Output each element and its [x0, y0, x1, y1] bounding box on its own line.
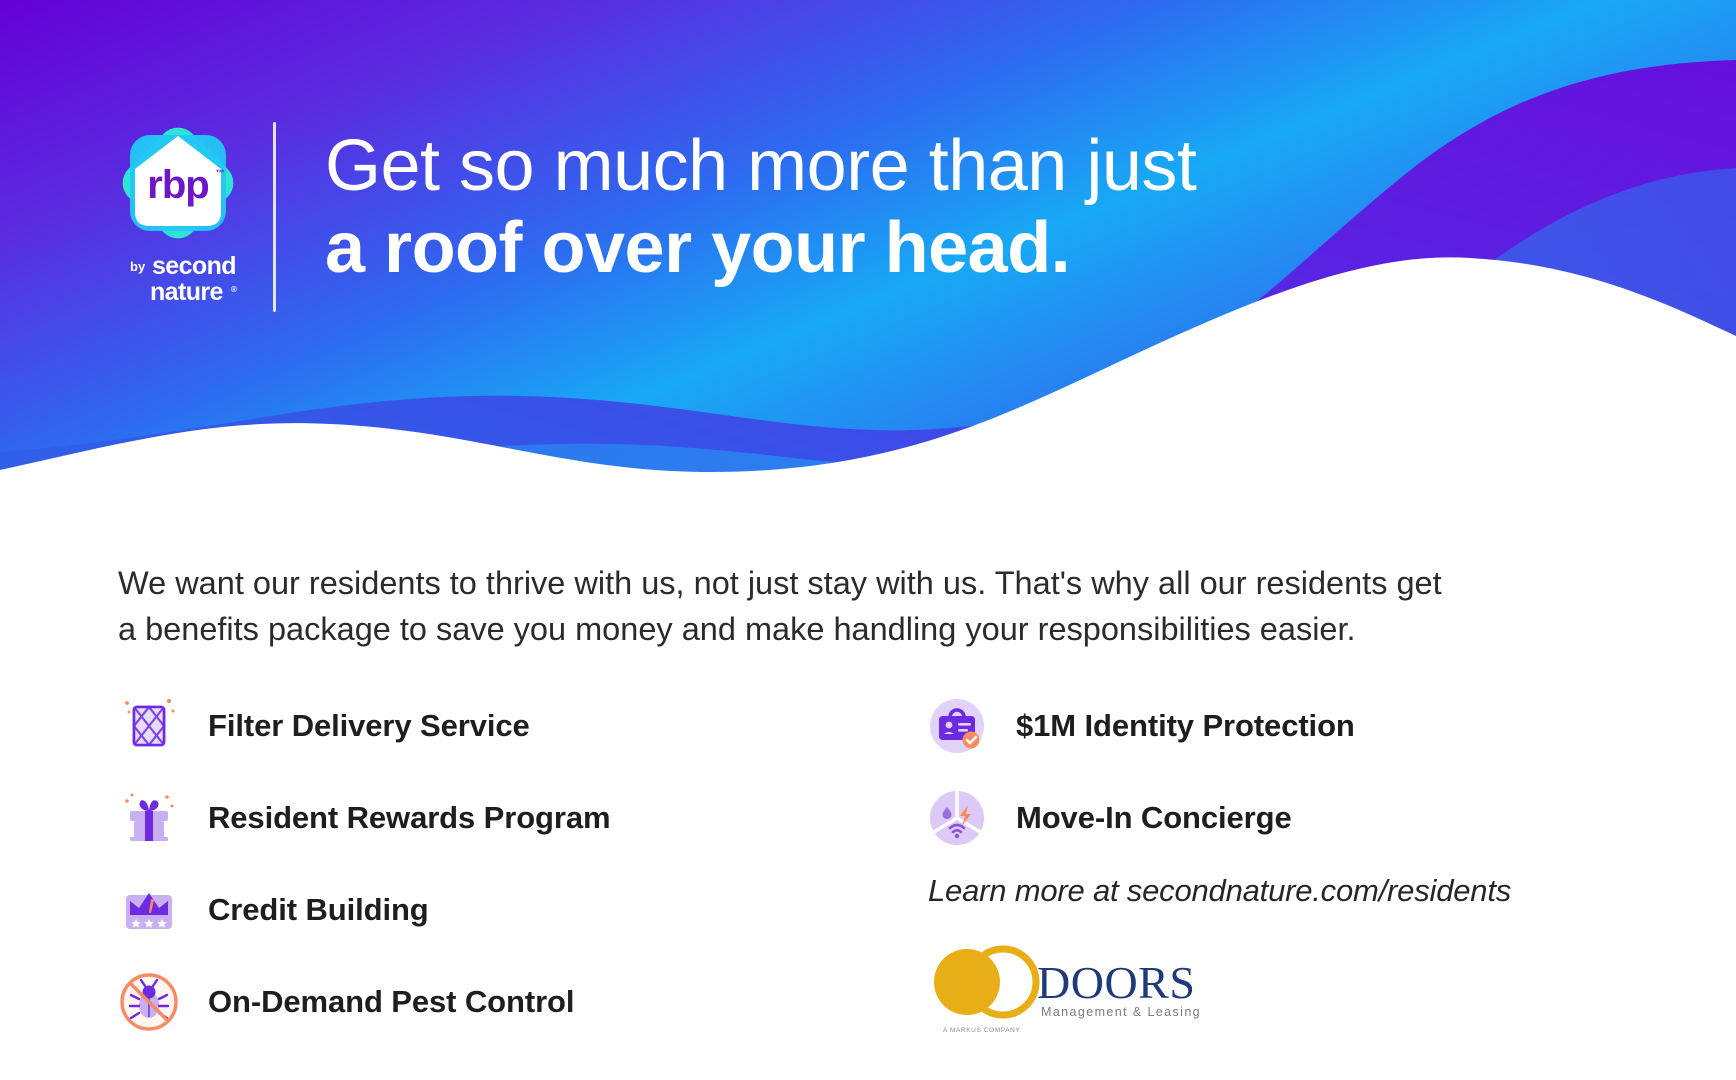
- headline-line-1: Get so much more than just: [325, 128, 1425, 204]
- no-pest-icon: [118, 971, 180, 1033]
- benefits-left-column: Filter Delivery Service: [118, 680, 818, 1048]
- gift-box-icon: [118, 787, 180, 849]
- headline-line-2: a roof over your head.: [325, 210, 1425, 286]
- svg-text:™: ™: [216, 168, 225, 178]
- benefit-item-move-in-concierge: Move-In Concierge: [926, 772, 1626, 864]
- svg-text:DOORS: DOORS: [1037, 957, 1195, 1008]
- air-filter-icon: [118, 695, 180, 757]
- benefit-item-identity-protection: $1M Identity Protection: [926, 680, 1626, 772]
- hero-banner: rbp ™ by second nature ® Get so much mor…: [0, 0, 1736, 500]
- benefit-item-credit-building: Credit Building: [118, 864, 818, 956]
- benefit-item-filter-delivery: Filter Delivery Service: [118, 680, 818, 772]
- benefit-item-resident-rewards: Resident Rewards Program: [118, 772, 818, 864]
- benefits-right-column: $1M Identity Protection: [926, 680, 1626, 864]
- rbp-benefits-flyer: rbp ™ by second nature ® Get so much mor…: [0, 0, 1736, 1080]
- hero-vertical-divider: [273, 122, 276, 312]
- doors-overlapping-circles-logo: DOORS Management & Leasing A MARKUS COMP…: [925, 940, 1215, 1040]
- learn-more-text: Learn more at secondnature.com/residents: [928, 873, 1511, 909]
- benefit-label: $1M Identity Protection: [1016, 708, 1355, 744]
- benefit-item-pest-control: On-Demand Pest Control: [118, 956, 818, 1048]
- credit-gauge-crown-icon: [118, 879, 180, 941]
- svg-text:rbp: rbp: [147, 163, 208, 207]
- svg-text:nature: nature: [150, 278, 224, 306]
- benefit-label: Resident Rewards Program: [208, 800, 610, 836]
- doors-partner-logo: DOORS Management & Leasing A MARKUS COMP…: [925, 940, 1215, 1040]
- benefit-label: Move-In Concierge: [1016, 800, 1292, 836]
- benefit-label: Filter Delivery Service: [208, 708, 530, 744]
- svg-text:A MARKUS COMPANY: A MARKUS COMPANY: [943, 1027, 1020, 1034]
- benefit-label: Credit Building: [208, 892, 429, 928]
- utilities-circle-icon: [926, 787, 988, 849]
- rbp-badge-icon: rbp ™: [117, 122, 239, 244]
- benefit-label: On-Demand Pest Control: [208, 984, 574, 1020]
- intro-paragraph: We want our residents to thrive with us,…: [118, 560, 1468, 652]
- second-nature-byline: by second nature ®: [108, 250, 248, 312]
- svg-text:®: ®: [231, 285, 237, 294]
- id-badge-check-icon: [926, 695, 988, 757]
- svg-text:Management & Leasing: Management & Leasing: [1041, 1005, 1201, 1019]
- svg-text:by: by: [130, 259, 146, 274]
- svg-text:second: second: [152, 252, 236, 280]
- rbp-logo-lockup: rbp ™ by second nature ®: [108, 122, 248, 312]
- hero-headline: Get so much more than just a roof over y…: [325, 128, 1425, 287]
